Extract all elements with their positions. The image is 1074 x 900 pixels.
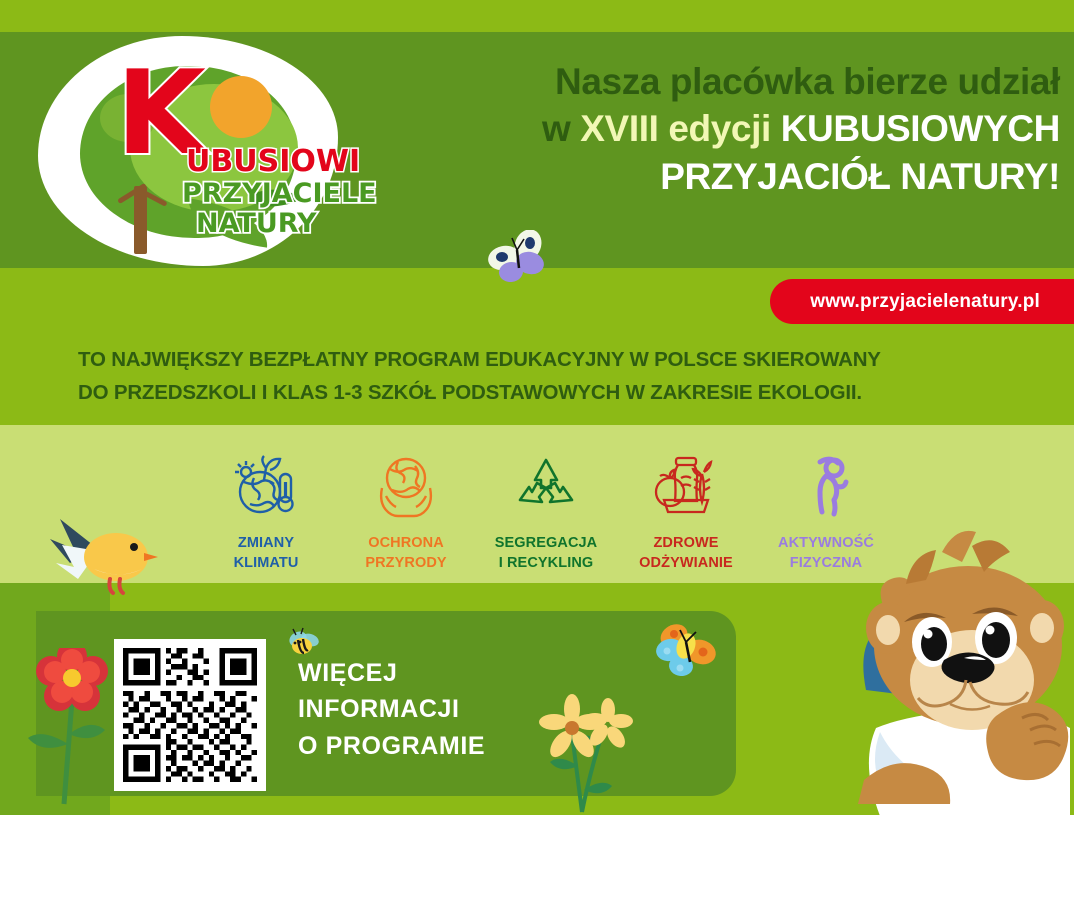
desc-1a: TO NAJWIĘKSZY	[78, 348, 249, 371]
category-nature: OCHRONA PRZYRODY	[336, 448, 476, 573]
climate-globe-thermometer-icon	[230, 448, 302, 526]
tree-trunk-icon	[134, 186, 147, 254]
category-climate: ZMIANY KLIMATU	[196, 448, 336, 573]
category-icon-row: ZMIANY KLIMATU	[196, 448, 896, 573]
category-nutrition-line2: ODŻYWIANIE	[639, 554, 733, 574]
logo-word-natury: NATURY	[196, 208, 317, 239]
logo-word-ubusiowi: UBUSIOWI	[186, 144, 360, 179]
poster-canvas: K UBUSIOWI PRZYJACIELE NATURY Nasza plac…	[0, 0, 1074, 900]
category-nature-label: OCHRONA PRZYRODY	[365, 534, 446, 573]
headline-edition: XVIII edycji	[580, 108, 771, 149]
description-line-2: DO PRZEDSZKOLI I KLAS 1-3 SZKÓŁ PODSTAWO…	[78, 376, 1008, 409]
program-logo: K UBUSIOWI PRZYJACIELE NATURY	[38, 36, 338, 266]
qr-code[interactable]	[114, 639, 266, 791]
description-line-1: TO NAJWIĘKSZY BEZPŁATNY PROGRAM EDUKACYJ…	[78, 343, 1008, 376]
headline: Nasza placówka bierze udział w XVIII edy…	[360, 58, 1060, 200]
category-nature-line1: OCHRONA	[365, 534, 446, 554]
sun-icon	[210, 76, 272, 138]
desc-2b: PRZEDSZKOLI	[114, 381, 256, 404]
category-climate-label: ZMIANY KLIMATU	[234, 534, 299, 573]
purple-butterfly-icon	[486, 230, 548, 286]
category-climate-line2: KLIMATU	[234, 554, 299, 574]
category-recycling-line2: I RECYKLING	[495, 554, 598, 574]
desc-2c: I	[256, 381, 273, 404]
category-recycling-label: SEGREGACJA I RECYKLING	[495, 534, 598, 573]
logo-word-przyjaciele: PRZYJACIELE	[182, 178, 377, 209]
website-url-badge[interactable]: www.przyjacielenatury.pl	[770, 279, 1074, 324]
more-info-line-1: WIĘCEJ	[298, 655, 578, 691]
headline-kubusiowych: KUBUSIOWYCH	[771, 108, 1060, 149]
yellow-flower-icon	[528, 694, 638, 814]
recycling-arrows-icon	[510, 448, 582, 526]
healthy-food-basket-icon	[650, 448, 722, 526]
headline-line-2: w XVIII edycji KUBUSIOWYCH	[360, 105, 1060, 152]
red-flower-icon	[22, 648, 118, 808]
headline-line-1: Nasza placówka bierze udział	[360, 58, 1060, 105]
band-top	[0, 0, 1074, 32]
headline-w: w	[542, 108, 580, 149]
headline-line-3: PRZYJACIÓŁ NATURY!	[360, 153, 1060, 200]
desc-2e: W ZAKRESIE EKOLOGII.	[620, 381, 862, 404]
desc-2a: DO	[78, 381, 114, 404]
category-nature-line2: PRZYRODY	[365, 554, 446, 574]
desc-1c: PROGRAM EDUKACYJNY W POLSCE SKIEROWANY	[368, 348, 880, 371]
flying-bird-icon	[40, 505, 170, 605]
website-url-text: www.przyjacielenatury.pl	[810, 291, 1040, 313]
desc-1b: BEZPŁATNY	[249, 348, 369, 371]
hands-holding-globe-icon	[370, 448, 442, 526]
orange-butterfly-icon	[646, 618, 726, 688]
desc-2d: KLAS 1-3 SZKÓŁ PODSTAWOWYCH	[273, 381, 620, 404]
bee-icon	[284, 626, 320, 660]
category-recycling: SEGREGACJA I RECYKLING	[476, 448, 616, 573]
footer: ORGANIZATOR PROGRAMU: KUBUŚ ® K PARTNER …	[0, 815, 1074, 900]
category-climate-line1: ZMIANY	[234, 534, 299, 554]
category-nutrition-label: ZDROWE ODŻYWIANIE	[639, 534, 733, 573]
category-nutrition-line1: ZDROWE	[639, 534, 733, 554]
bear-mascot-icon	[846, 480, 1074, 816]
description-text: TO NAJWIĘKSZY BEZPŁATNY PROGRAM EDUKACYJ…	[78, 343, 1008, 409]
category-nutrition: ZDROWE ODŻYWIANIE	[616, 448, 756, 573]
category-recycling-line1: SEGREGACJA	[495, 534, 598, 554]
